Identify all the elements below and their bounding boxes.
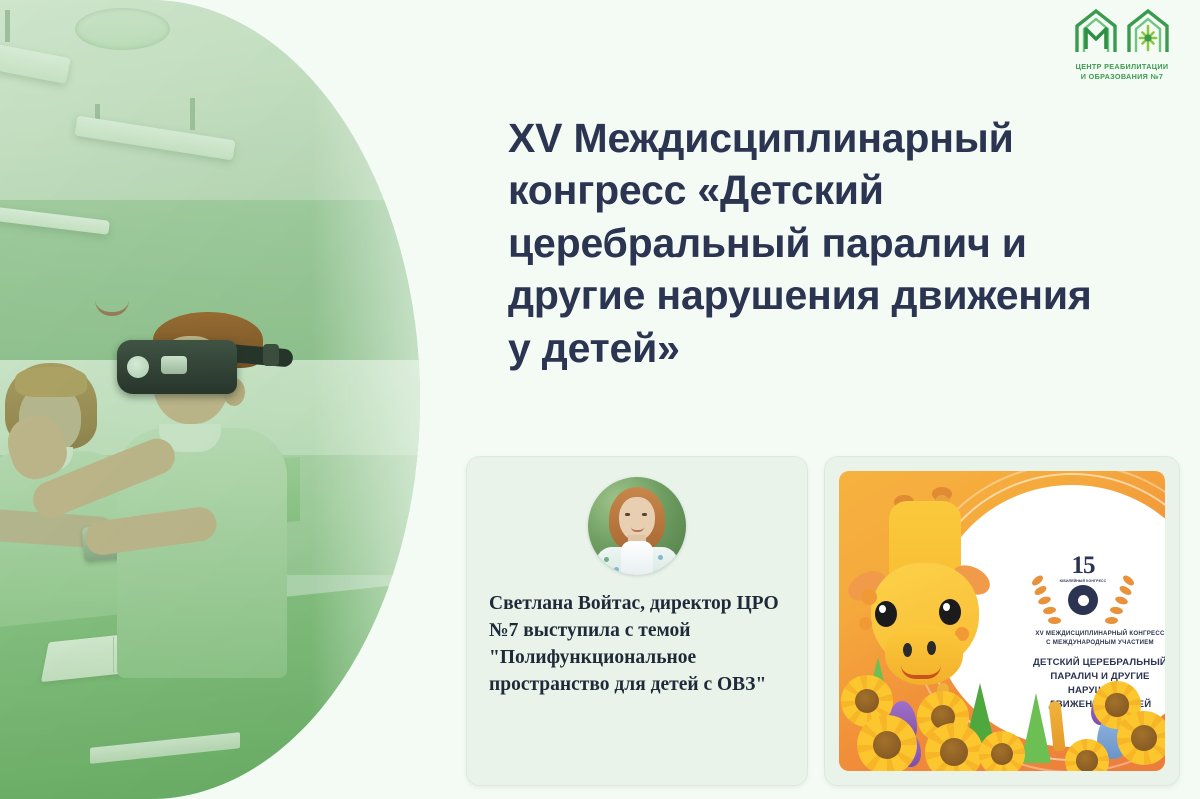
speaker-card: Светлана Войтас, директор ЦРО №7 выступи…	[466, 456, 808, 786]
sunflower-icon	[979, 731, 1025, 771]
page-title: XV Междисциплинарный конгресс «Детский ц…	[508, 112, 1108, 374]
arch-with-sunburst-icon	[1125, 8, 1171, 59]
anniversary-emblem: 15 ЮБИЛЕЙНЫЙ КОНГРЕСС	[1035, 553, 1131, 615]
laurel-wreath-icon	[1029, 575, 1063, 629]
congress-poster-image: 15 ЮБИЛЕЙНЫЙ КОНГРЕСС XV МЕЖДИСЦИПЛИНАРН…	[839, 471, 1165, 771]
giraffe-eye-highlight	[879, 605, 886, 613]
sunflower-icon	[925, 723, 983, 771]
avatar-floral-dot	[666, 567, 671, 572]
avatar-floral-dot	[604, 557, 609, 562]
laurel-wreath-icon	[1103, 575, 1137, 629]
sunflower-icon	[1065, 739, 1109, 771]
photo-edge-fade	[310, 0, 420, 799]
logo-text-line1: ЦЕНТР РЕАБИЛИТАЦИИ	[1058, 62, 1186, 72]
sunflower-icon	[857, 715, 917, 771]
avatar-turtleneck	[621, 541, 653, 575]
poster-page: ЦЕНТР РЕАБИЛИТАЦИИ И ОБРАЗОВАНИЯ №7 XV М…	[0, 0, 1200, 799]
giraffe-spot	[861, 589, 877, 605]
avatar-floral-dot	[614, 567, 619, 572]
flower-row	[839, 651, 1165, 771]
gear-icon	[1068, 585, 1098, 615]
giraffe-eye-highlight	[943, 603, 950, 611]
logo-text-line2: И ОБРАЗОВАНИЯ №7	[1058, 72, 1186, 82]
giraffe-spot	[859, 617, 872, 630]
classroom-vr-photo	[0, 0, 420, 799]
conifer-icon	[1021, 693, 1051, 763]
sunflower-icon	[1117, 711, 1165, 765]
avatar-floral-dot	[658, 555, 663, 560]
giraffe-eye	[875, 601, 897, 627]
arch-with-letter-m-icon	[1073, 8, 1119, 59]
speaker-avatar	[588, 477, 686, 575]
avatar-eye	[625, 513, 630, 516]
poster-subtitle-line1: XV МЕЖДИСЦИПЛИНАРНЫЙ КОНГРЕСС	[1025, 629, 1165, 638]
cro7-logo: ЦЕНТР РЕАБИЛИТАЦИИ И ОБРАЗОВАНИЯ №7	[1058, 8, 1186, 81]
poster-subtitle-line2: С МЕЖДУНАРОДНЫМ УЧАСТИЕМ	[1025, 638, 1165, 647]
speaker-caption: Светлана Войтас, директор ЦРО №7 выступи…	[489, 591, 785, 699]
poster-card: 15 ЮБИЛЕЙНЫЙ КОНГРЕСС XV МЕЖДИСЦИПЛИНАРН…	[824, 456, 1180, 786]
giraffe-eye	[939, 599, 961, 625]
avatar-eye	[642, 513, 647, 516]
